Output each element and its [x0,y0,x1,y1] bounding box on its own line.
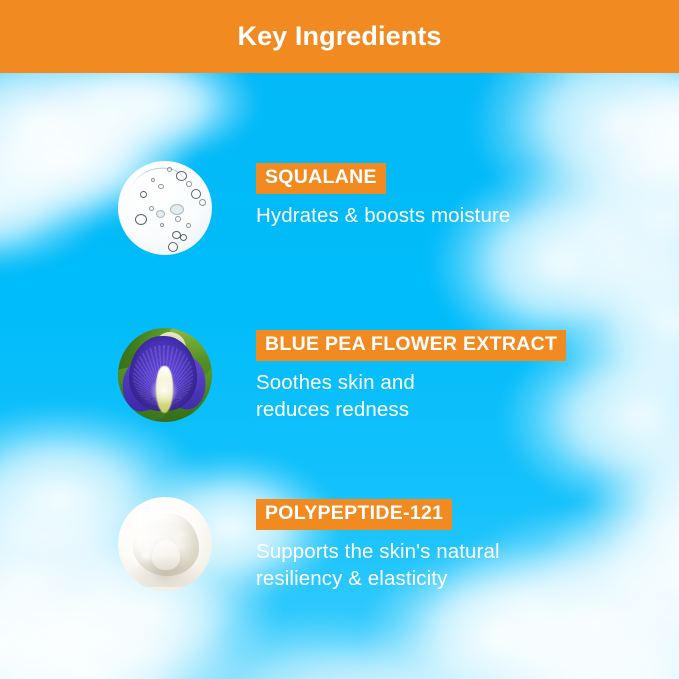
page-title: Key Ingredients [237,23,441,50]
ingredient-description: Hydrates & boosts moisture [256,202,510,229]
ingredient-description: Supports the skin's natural resiliency &… [256,538,500,592]
key-ingredients-poster: Key Ingredients [0,0,679,679]
blue-pea-flower-icon [118,328,212,422]
ingredient-name-badge: SQUALANE [256,163,386,194]
ingredients-list: SQUALANE Hydrates & boosts moisture BLUE… [0,73,679,679]
cream-swirl-icon [118,497,212,591]
ingredient-item-polypeptide-121: POLYPEPTIDE-121 Supports the skin's natu… [118,497,500,592]
ingredient-name-badge: POLYPEPTIDE-121 [256,499,452,530]
ingredient-text-block: POLYPEPTIDE-121 Supports the skin's natu… [256,497,500,592]
ingredient-name-badge: BLUE PEA FLOWER EXTRACT [256,330,566,361]
ingredient-text-block: BLUE PEA FLOWER EXTRACT Soothes skin and… [256,328,566,423]
ingredient-text-block: SQUALANE Hydrates & boosts moisture [256,161,510,229]
gel-drop-icon [118,161,212,255]
ingredient-item-squalane: SQUALANE Hydrates & boosts moisture [118,161,510,255]
ingredient-description: Soothes skin and reduces redness [256,369,566,423]
ingredient-item-blue-pea-flower-extract: BLUE PEA FLOWER EXTRACT Soothes skin and… [118,328,566,423]
header-banner: Key Ingredients [0,0,679,73]
